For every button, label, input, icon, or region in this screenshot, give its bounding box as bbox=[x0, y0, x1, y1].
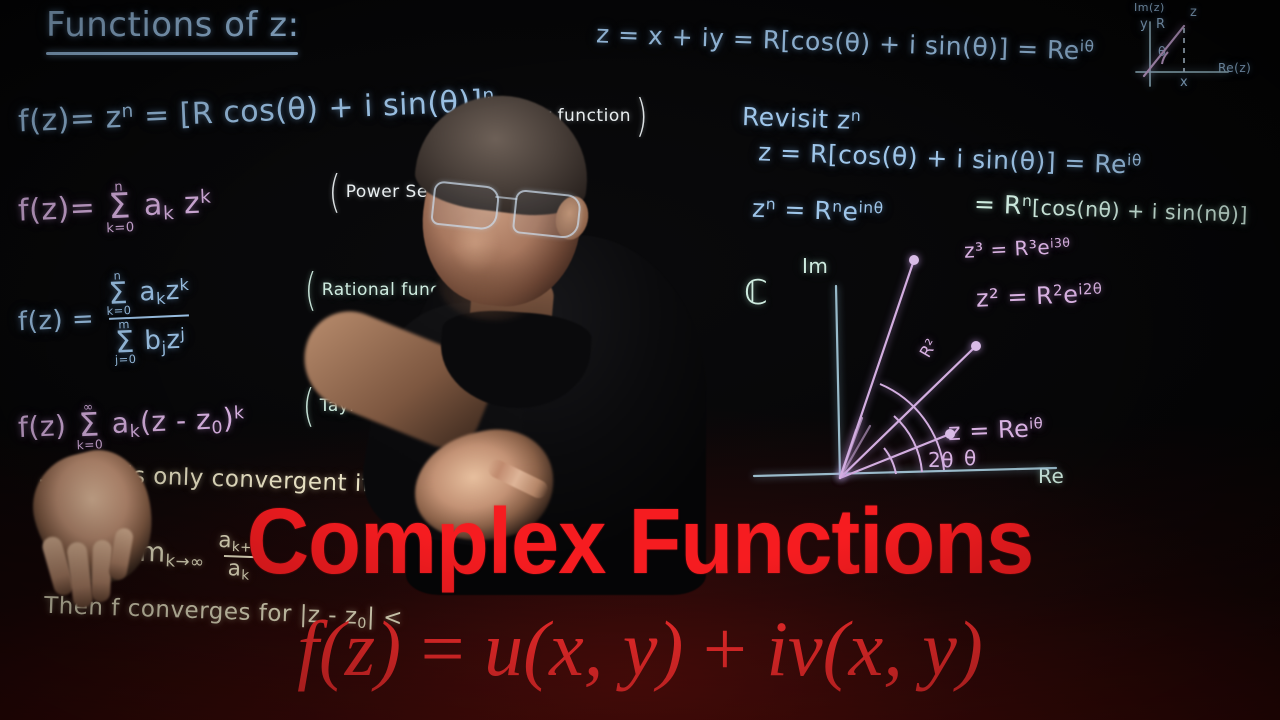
eq4-center-index: 0 bbox=[211, 418, 223, 438]
annotation-power-function-label: Power function bbox=[496, 107, 633, 126]
eq2-coef: a bbox=[143, 187, 163, 223]
paren-right: ) bbox=[636, 92, 648, 142]
eq3-num-summation: n Σ k=0 bbox=[105, 271, 132, 317]
eq1-lhs: f(z) bbox=[17, 102, 70, 139]
eq1-eq: = bbox=[69, 101, 96, 137]
eq3-denominator: m Σ j=0 bjzj bbox=[109, 314, 190, 365]
board-heading: Functions of z: bbox=[46, 8, 300, 44]
argand-diagram bbox=[744, 248, 1184, 498]
video-title: Complex Functions bbox=[45, 495, 1235, 588]
annotation-rational-function-label: Rational functin bbox=[320, 281, 466, 300]
eq4-paren-open: (z - z bbox=[139, 403, 212, 439]
paren-right: ) bbox=[466, 168, 478, 218]
demoivre-lhs-exponent: n bbox=[766, 195, 777, 213]
eq3-den-summation: m Σ j=0 bbox=[113, 320, 136, 366]
video-subtitle-formula: f(z) = u(x, y) + iv(x, y) bbox=[0, 610, 1280, 688]
eq1-exponent: n bbox=[121, 101, 134, 123]
radius-fraction: 1 L bbox=[470, 416, 491, 460]
eq3-num-var: z bbox=[165, 276, 180, 307]
demoivre-rhs: = R bbox=[974, 189, 1023, 220]
eq3-den-coef: b bbox=[144, 325, 162, 356]
polar-exponent: iθ bbox=[1127, 151, 1142, 170]
video-frame: Functions of z: f(z)= zn = [R cos(θ) + i… bbox=[0, 0, 1280, 720]
eq2-sum-lower: k=0 bbox=[106, 222, 135, 234]
eq3-eq: = bbox=[71, 304, 95, 335]
heading-underline bbox=[46, 52, 298, 55]
eq2-var: z bbox=[183, 186, 201, 222]
annotation-taylor-series: ( Taylor Series ) bbox=[300, 382, 454, 432]
paren-left: ( bbox=[305, 266, 317, 316]
revisit-exponent: n bbox=[851, 107, 862, 125]
annotation-rational-function: ( Rational functin ) bbox=[302, 266, 484, 316]
eq2-lhs: f(z) bbox=[17, 191, 70, 228]
paren-left: ( bbox=[481, 92, 493, 142]
sigma-icon: Σ bbox=[78, 412, 100, 440]
eq3-fraction: n Σ k=0 akzk m Σ j=0 bjzj bbox=[101, 268, 197, 366]
eq2-coef-index: k bbox=[163, 203, 175, 224]
radius-of-convergence-value: 1 L bbox=[470, 416, 491, 460]
annotation-power-series-label: Power Series bbox=[344, 183, 463, 202]
eq3-num-lower: k=0 bbox=[106, 306, 131, 317]
paren-left: ( bbox=[303, 382, 315, 432]
revisit-text: Revisit z bbox=[742, 102, 852, 135]
eq3-num-exponent: k bbox=[179, 275, 190, 294]
demoivre-e: e bbox=[842, 197, 859, 227]
equation-rational-function: f(z) = n Σ k=0 akzk m Σ j=0 bjzj bbox=[16, 268, 197, 369]
eq3-numerator: n Σ k=0 akzk bbox=[101, 268, 195, 318]
formula-equals: = bbox=[401, 605, 484, 692]
demoivre-mid-exponent: n bbox=[832, 198, 843, 216]
demoivre-e-exponent: inθ bbox=[858, 198, 884, 217]
formula-plus: + bbox=[683, 605, 766, 692]
eq2-summation: n Σ k=0 bbox=[104, 181, 135, 234]
eq3-den-var: z bbox=[166, 325, 181, 356]
eq4-lhs: f(z) bbox=[17, 409, 67, 444]
annotation-power-function: ( Power function ) bbox=[478, 92, 651, 142]
eq2-eq: = bbox=[69, 190, 96, 226]
formula-f: f bbox=[297, 605, 319, 692]
eq4-coef: a bbox=[111, 406, 130, 440]
eq3-den-lower: j=0 bbox=[115, 355, 137, 366]
eq4-summation: ∞ Σ k=0 bbox=[75, 401, 104, 450]
eq1-base: z bbox=[105, 100, 123, 136]
radius-numerator: 1 bbox=[470, 416, 491, 437]
annotation-taylor-series-label: Taylor Series bbox=[318, 397, 436, 416]
eq3-lhs: f(z) bbox=[17, 305, 63, 337]
paren-right: ) bbox=[468, 266, 480, 316]
eq4-exponent: k bbox=[233, 403, 244, 423]
formula-xy2: (x, y) bbox=[823, 605, 983, 692]
demoivre-lhs: z bbox=[752, 194, 767, 223]
demoivre-mid: = R bbox=[784, 195, 833, 226]
formula-u: u bbox=[484, 605, 523, 692]
formula-xy1: (x, y) bbox=[523, 605, 683, 692]
eq3-den-exponent: j bbox=[180, 324, 186, 343]
euler-exponent: iθ bbox=[1079, 37, 1094, 56]
formula-z: (z) bbox=[319, 605, 401, 692]
eq2-var-exponent: k bbox=[200, 187, 212, 208]
revisit-heading: Revisit zn bbox=[742, 104, 862, 134]
eq4-sum-lower: k=0 bbox=[76, 439, 103, 451]
equation-power-series: f(z)= n Σ k=0 ak zk bbox=[17, 178, 213, 238]
radius-denominator: L bbox=[471, 437, 491, 460]
equation-demoivre: zn = Rneinθ bbox=[752, 196, 884, 227]
sigma-icon: Σ bbox=[108, 192, 132, 222]
equation-taylor-series: f(z) ∞ Σ k=0 ak(z - z0)k bbox=[17, 395, 246, 453]
formula-iv: iv bbox=[766, 605, 822, 692]
annotation-power-series: ( Power Series ) bbox=[326, 168, 481, 218]
mini-argand-diagram bbox=[1128, 4, 1278, 90]
eq3-num-coef: a bbox=[139, 277, 157, 308]
paren-left: ( bbox=[329, 168, 341, 218]
